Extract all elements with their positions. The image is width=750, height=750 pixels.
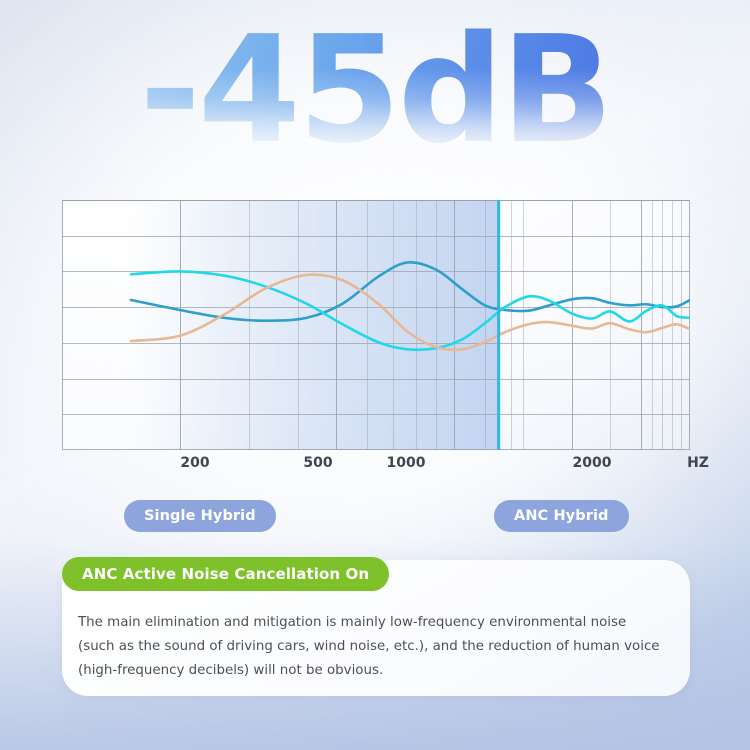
headline-db-value: -45dB [0,14,750,166]
legend-pill-single-hybrid[interactable]: Single Hybrid [124,500,276,532]
frequency-response-chart [62,200,690,450]
legend-row: Single Hybrid ANC Hybrid [62,500,690,532]
headline-container: -45dB [0,14,750,186]
chart-svg [62,200,690,450]
legend-pill-anc-hybrid[interactable]: ANC Hybrid [494,500,629,532]
legend-pill-anc-hybrid-label: ANC Hybrid [514,508,609,524]
legend-pill-single-hybrid-label: Single Hybrid [144,508,256,524]
x-axis-tick-hz: HZ [687,455,709,471]
anc-status-badge-label: ANC Active Noise Cancellation On [82,565,369,583]
poster-root: -45dB 200 [0,0,750,750]
x-axis-tick-500: 500 [303,455,332,471]
x-axis-tick-200: 200 [180,455,209,471]
description-text: The main elimination and mitigation is m… [78,611,664,683]
x-axis-tick-2000: 2000 [573,455,612,471]
x-axis-tick-1000: 1000 [387,455,426,471]
highlight-band [131,200,499,450]
x-axis-labels: 20050010002000HZ [62,455,690,477]
anc-status-badge[interactable]: ANC Active Noise Cancellation On [62,557,389,591]
